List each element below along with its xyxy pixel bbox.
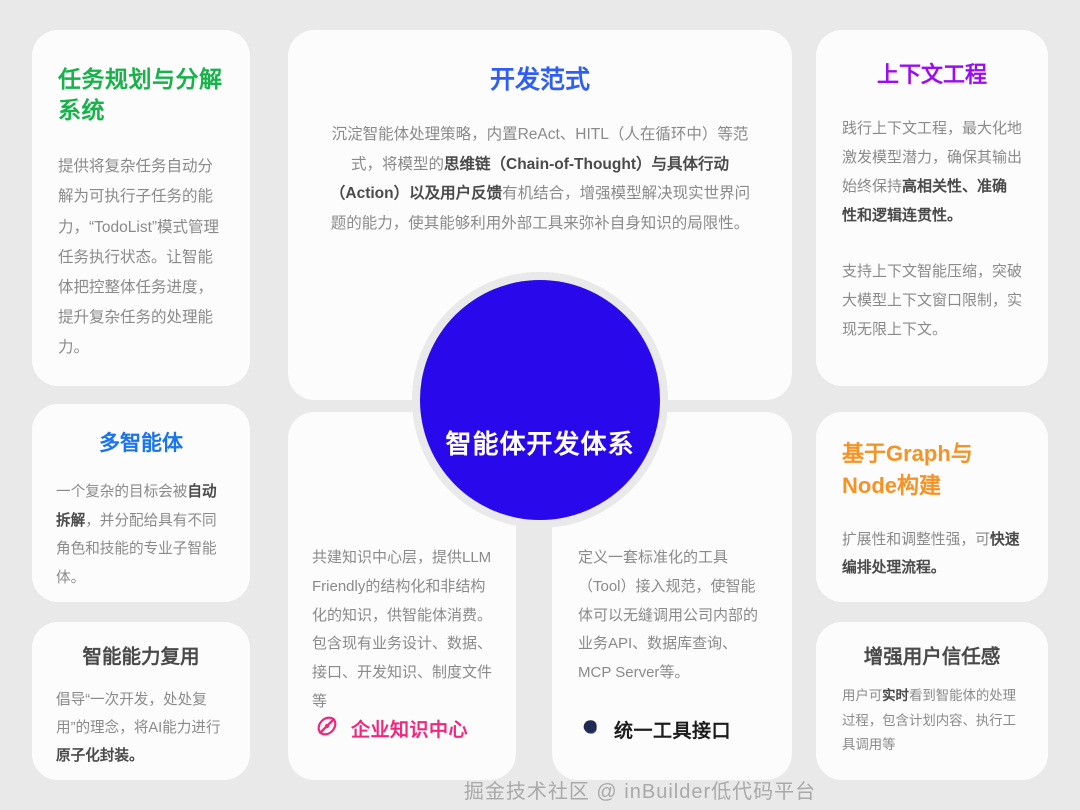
- card-multi-agent[interactable]: 多智能体 一个复杂的目标会被自动拆解，并分配给具有不同角色和技能的专业子智能体。: [32, 404, 250, 602]
- tool-blob-icon: [578, 714, 603, 744]
- card-graph-node-title: 基于Graph与Node构建: [842, 438, 1022, 502]
- hub-circle[interactable]: 智能体开发体系: [420, 280, 660, 520]
- unified-tools-tag-label: 统一工具接口: [614, 716, 731, 743]
- card-multi-agent-title: 多智能体: [56, 430, 226, 458]
- card-capability-reuse-title: 智能能力复用: [56, 644, 226, 670]
- card-task-planning-body: 提供将复杂任务自动分解为可执行子任务的能力，“TodoList”模式管理任务执行…: [58, 152, 224, 364]
- unified-tools-tag[interactable]: 统一工具接口: [578, 714, 731, 744]
- card-capability-reuse[interactable]: 智能能力复用 倡导“一次开发，处处复用”的理念，将AI能力进行原子化封装。: [32, 622, 250, 780]
- reuse-text-1: 倡导“一次开发，处处复用”的理念，将AI能力进行: [56, 692, 221, 736]
- card-context-engineering-body-2: 支持上下文智能压缩，突破大模型上下文窗口限制，实现无限上下文。: [842, 257, 1022, 345]
- trust-text-1: 用户可: [842, 688, 882, 703]
- card-capability-reuse-body: 倡导“一次开发，处处复用”的理念，将AI能力进行原子化封装。: [56, 686, 226, 770]
- infographic-canvas: 任务规划与分解系统 提供将复杂任务自动分解为可执行子任务的能力，“TodoLis…: [0, 0, 1080, 810]
- hub-label: 智能体开发体系: [445, 424, 634, 461]
- card-task-planning[interactable]: 任务规划与分解系统 提供将复杂任务自动分解为可执行子任务的能力，“TodoLis…: [32, 30, 250, 386]
- card-user-trust-title: 增强用户信任感: [842, 644, 1022, 670]
- knowledge-center-tag-label: 企业知识中心: [351, 715, 468, 742]
- card-user-trust[interactable]: 增强用户信任感 用户可实时看到智能体的处理过程，包含计划内容、执行工具调用等: [816, 622, 1048, 780]
- card-knowledge-center-body: 共建知识中心层，提供LLM Friendly的结构化和非结构化的知识，供智能体消…: [312, 544, 492, 717]
- card-user-trust-body: 用户可实时看到智能体的处理过程，包含计划内容、执行工具调用等: [842, 684, 1022, 757]
- knowledge-hub-icon: [314, 713, 340, 744]
- trust-text-bold: 实时: [882, 688, 909, 703]
- card-multi-agent-body: 一个复杂的目标会被自动拆解，并分配给具有不同角色和技能的专业子智能体。: [56, 478, 226, 592]
- reuse-text-bold: 原子化封装。: [56, 748, 144, 764]
- card-dev-paradigm-body: 沉淀智能体处理策略，内置ReAct、HITL（人在循环中）等范式，将模型的思维链…: [324, 120, 756, 239]
- card-dev-paradigm-title: 开发范式: [324, 64, 756, 98]
- multi-agent-text-1: 一个复杂的目标会被: [56, 484, 187, 500]
- card-context-engineering-body: 践行上下文工程，最大化地激发模型潜力，确保其输出始终保持高相关性、准确性和逻辑连…: [842, 114, 1022, 231]
- card-graph-node[interactable]: 基于Graph与Node构建 扩展性和调整性强，可快速编排处理流程。: [816, 412, 1048, 602]
- graph-text-1: 扩展性和调整性强，可: [842, 532, 990, 548]
- card-unified-tools-body: 定义一套标准化的工具（Tool）接入规范，使智能体可以无缝调用公司内部的业务AP…: [578, 544, 768, 688]
- card-graph-node-body: 扩展性和调整性强，可快速编排处理流程。: [842, 526, 1022, 583]
- card-context-engineering[interactable]: 上下文工程 践行上下文工程，最大化地激发模型潜力，确保其输出始终保持高相关性、准…: [816, 30, 1048, 386]
- card-task-planning-title: 任务规划与分解系统: [58, 64, 224, 126]
- knowledge-center-tag[interactable]: 企业知识中心: [314, 713, 468, 744]
- card-context-engineering-title: 上下文工程: [842, 60, 1022, 90]
